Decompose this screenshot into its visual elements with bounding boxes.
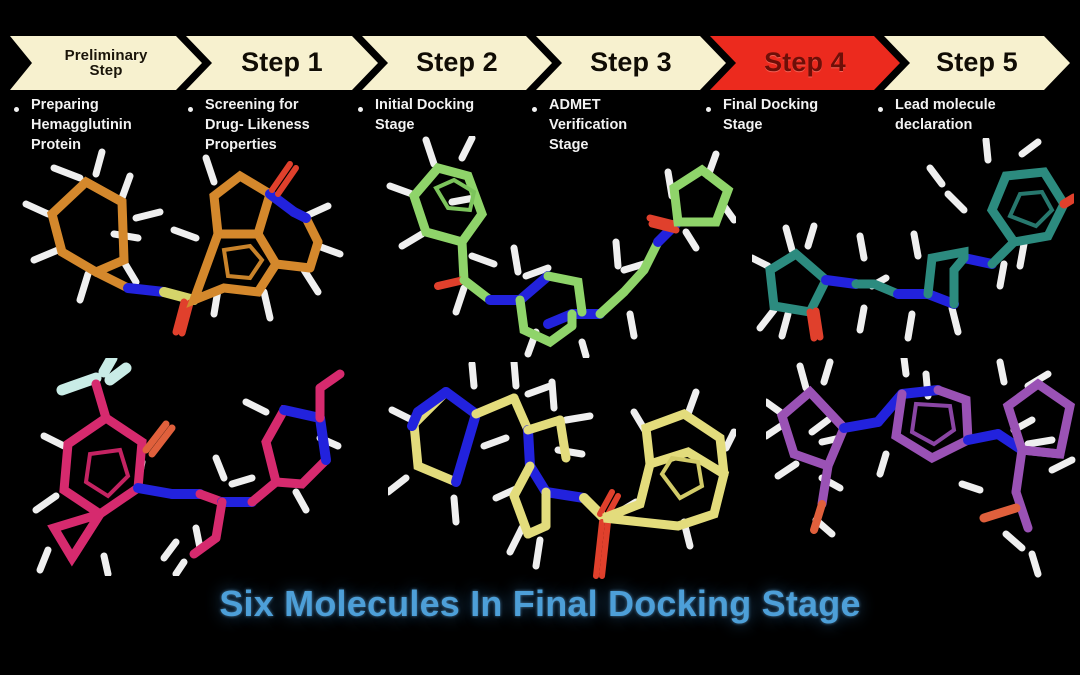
molecule-2 bbox=[386, 136, 736, 358]
molecule-1 bbox=[18, 142, 348, 357]
step-bullet-text: Initial Docking Stage bbox=[375, 95, 474, 135]
step-bullet-text: Final Docking Stage bbox=[723, 95, 818, 135]
bullet-dot-icon bbox=[188, 95, 199, 121]
molecule-6 bbox=[766, 358, 1080, 580]
step-bullet-text: Preparing Hemagglutinin Protein bbox=[31, 95, 132, 155]
step-chevron-step-3[interactable]: Step 3 bbox=[536, 36, 726, 90]
step-bullet-preliminary: Preparing Hemagglutinin Protein bbox=[14, 95, 179, 155]
step-chevron-label: Step 5 bbox=[936, 49, 1018, 77]
bullet-dot-icon bbox=[14, 95, 25, 121]
step-chevron-label: Step 2 bbox=[416, 49, 498, 77]
step-chevron-label: Step 1 bbox=[241, 49, 323, 77]
step-chevron-step-1[interactable]: Step 1 bbox=[186, 36, 378, 90]
bullet-dot-icon bbox=[532, 95, 543, 121]
step-chevron-label: Preliminary Step bbox=[65, 48, 148, 79]
molecule-5 bbox=[388, 362, 736, 582]
molecule-gallery bbox=[0, 130, 1080, 580]
step-chevron-step-2[interactable]: Step 2 bbox=[362, 36, 552, 90]
bullet-dot-icon bbox=[706, 95, 717, 121]
step-bullet-text: Lead molecule declaration bbox=[895, 95, 996, 135]
molecule-3 bbox=[752, 138, 1074, 356]
step-bullet-step-5: Lead molecule declaration bbox=[878, 95, 1058, 135]
slide-root: Preliminary Step Step 1 Step 2 Step 3 St… bbox=[0, 0, 1080, 675]
step-bullet-text: ADMET Verification Stage bbox=[549, 95, 627, 155]
step-chevron-step-4[interactable]: Step 4 bbox=[710, 36, 900, 90]
step-bullet-step-3: ADMET Verification Stage bbox=[532, 95, 702, 155]
step-bullet-step-2: Initial Docking Stage bbox=[358, 95, 528, 135]
step-bullet-step-1: Screening for Drug- Likeness Properties bbox=[188, 95, 356, 155]
step-bullet-step-4: Final Docking Stage bbox=[706, 95, 876, 135]
slide-caption: Six Molecules In Final Docking Stage bbox=[0, 583, 1080, 625]
bullet-dot-icon bbox=[358, 95, 369, 121]
step-chevron-label: Step 3 bbox=[590, 49, 672, 77]
molecule-4 bbox=[20, 358, 360, 576]
step-chevron-preliminary[interactable]: Preliminary Step bbox=[10, 36, 202, 90]
process-banner: Preliminary Step Step 1 Step 2 Step 3 St… bbox=[0, 36, 1080, 90]
bullet-dot-icon bbox=[878, 95, 889, 121]
step-chevron-step-5[interactable]: Step 5 bbox=[884, 36, 1070, 90]
step-bullet-text: Screening for Drug- Likeness Properties bbox=[205, 95, 310, 155]
step-chevron-label: Step 4 bbox=[764, 49, 846, 77]
